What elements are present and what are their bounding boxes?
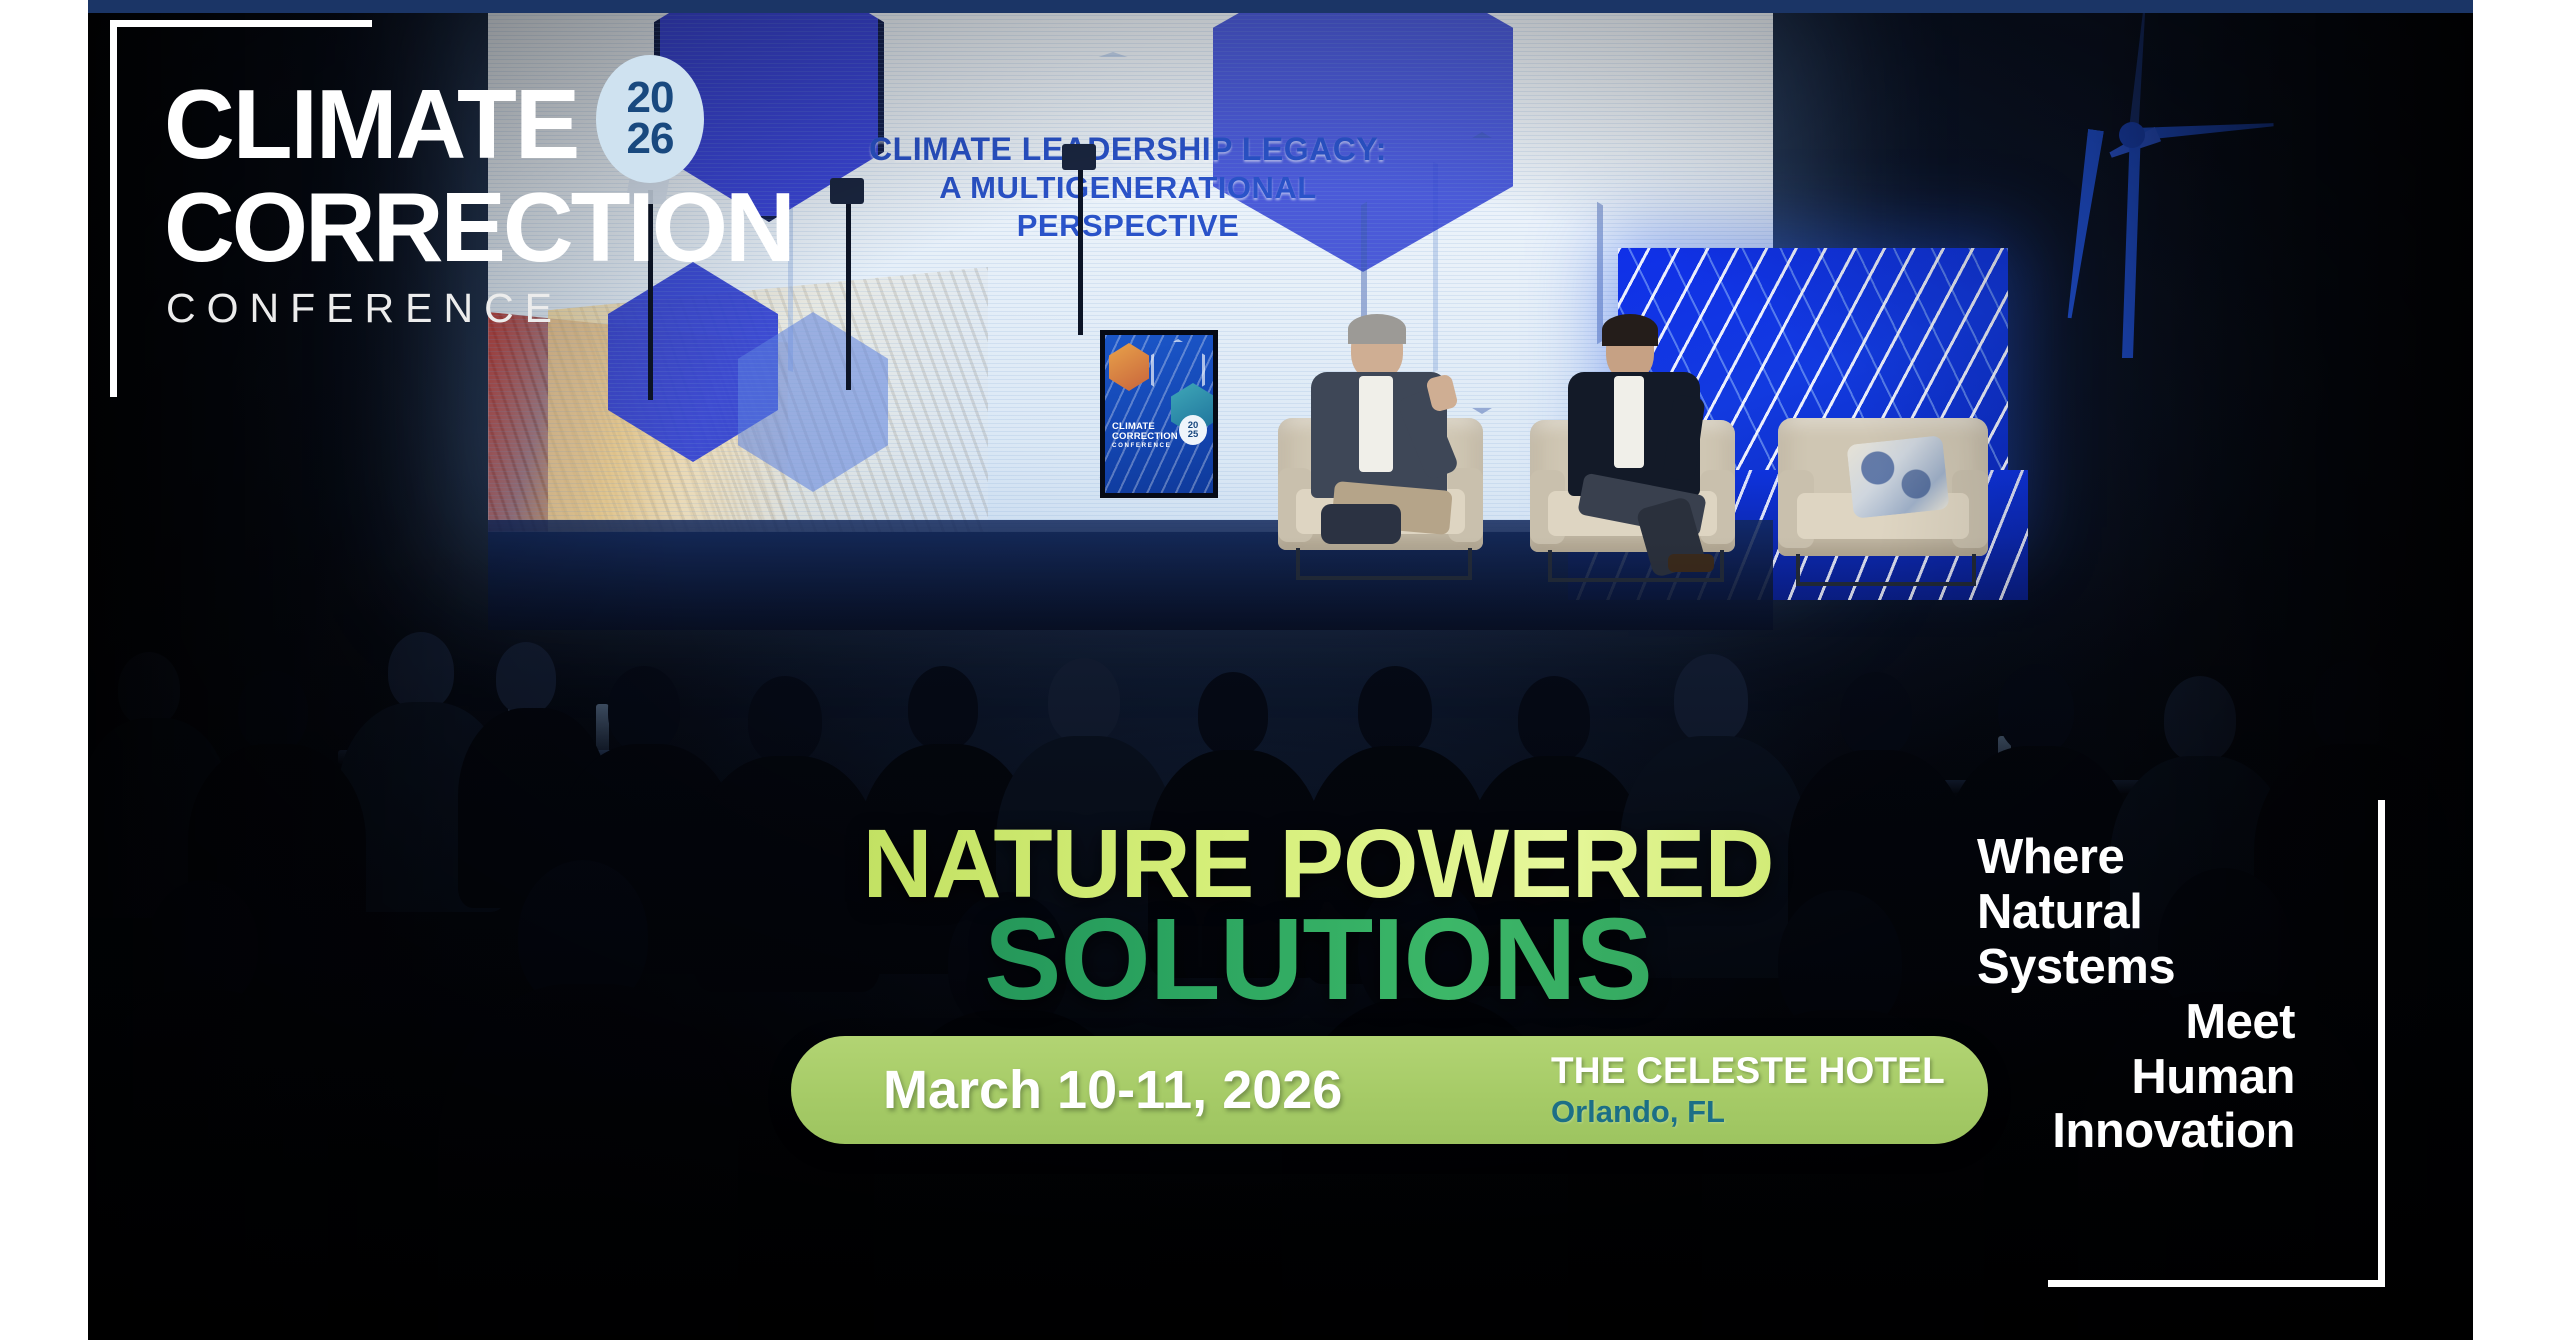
slide-title-line-3: PERSPECTIVE	[808, 207, 1448, 245]
venue-city: Orlando, FL	[1551, 1095, 1945, 1129]
tagline-line-4: Meet	[1977, 995, 2307, 1050]
wind-turbine-icon	[1978, 18, 2278, 348]
logo-year-bottom: 26	[627, 119, 674, 160]
speaker-person-center	[1548, 320, 1763, 572]
tagline-line-5: Human	[1977, 1050, 2307, 1105]
decorative-pillow	[1846, 435, 1949, 519]
venue-hotel-name: THE CELESTE HOTEL	[1551, 1051, 1945, 1092]
top-blue-band	[88, 0, 2473, 13]
speaker-person-left	[1293, 318, 1508, 568]
tagline-line-1: Where	[1977, 830, 2307, 885]
podium-year-bottom: 25	[1188, 430, 1199, 439]
podium-year-badge: 20 25	[1179, 415, 1207, 445]
tagline-line-6: Innovation	[1977, 1104, 2307, 1159]
tagline-line-3: Systems	[1977, 940, 2307, 995]
logo-line-climate: CLIMATE	[164, 75, 578, 173]
podium-banner-sign: CLIMATE CORRECTION CONFERENCE 20 25	[1100, 330, 1218, 498]
event-logo-lockup: CLIMATE CORRECTION CONFERENCE 20 26	[110, 20, 770, 390]
event-venue-block: THE CELESTE HOTEL Orlando, FL	[1551, 1051, 1945, 1129]
slide-title-line-1: CLIMATE LEADERSHIP LEGACY:	[808, 130, 1448, 169]
armchair-legs-right	[1796, 554, 1976, 586]
light-stand-right	[1078, 165, 1083, 335]
tagline-line-2: Natural	[1977, 885, 2307, 940]
stage-light-mid	[830, 178, 864, 204]
headline-line-solutions: SOLUTIONS	[788, 904, 1848, 1014]
light-stand-mid	[846, 200, 851, 390]
date-venue-pill: March 10-11, 2026 THE CELESTE HOTEL Orla…	[791, 1036, 1988, 1144]
theme-headline: NATURE POWERED SOLUTIONS	[788, 818, 1848, 1014]
tagline-block: Where Natural Systems Meet Human Innovat…	[1955, 770, 2385, 1320]
slide-session-title: CLIMATE LEADERSHIP LEGACY: A MULTIGENERA…	[808, 130, 1448, 245]
conference-promo-poster: CLIMATE LEADERSHIP LEGACY: A MULTIGENERA…	[0, 0, 2560, 1340]
tagline-text: Where Natural Systems Meet Human Innovat…	[1977, 830, 2307, 1159]
logo-line-correction: CORRECTION	[164, 178, 793, 276]
logo-line-conference: CONFERENCE	[166, 288, 563, 329]
stage-light-right	[1062, 144, 1096, 170]
podium-logo-line-2: CORRECTION	[1112, 432, 1178, 442]
podium-logo-line-3: CONFERENCE	[1112, 443, 1178, 449]
podium-hex-orange-icon	[1109, 343, 1149, 391]
logo-year-badge: 20 26	[596, 55, 704, 183]
logo-year-top: 20	[627, 78, 674, 119]
slide-title-line-2: A MULTIGENERATIONAL	[808, 169, 1448, 207]
poster-artwork: CLIMATE LEADERSHIP LEGACY: A MULTIGENERA…	[88, 0, 2473, 1340]
event-date: March 10-11, 2026	[883, 1059, 1342, 1121]
